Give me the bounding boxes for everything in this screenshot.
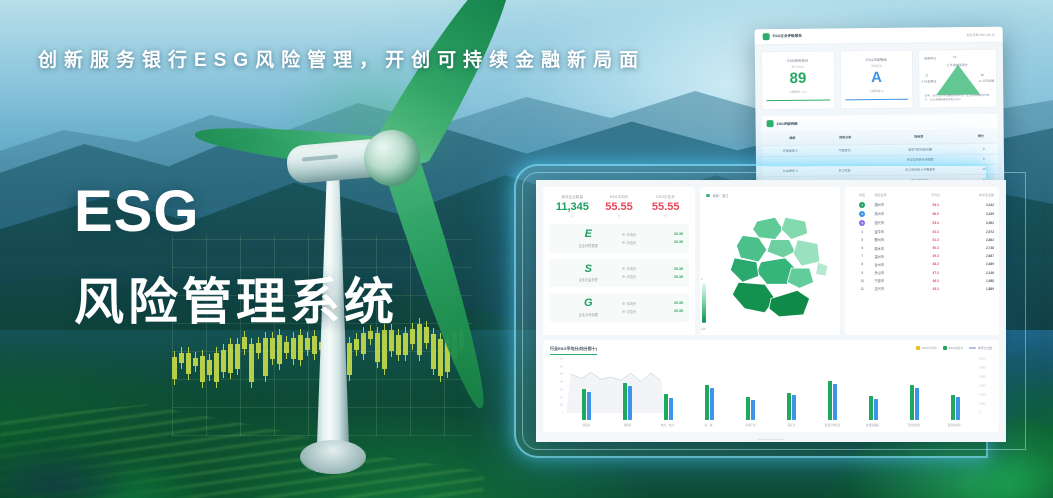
y-tick-label: 20 <box>560 396 563 399</box>
chart-bar-group: 交通运输和... <box>853 359 894 427</box>
bar-esg-median <box>587 392 591 420</box>
grade-label: ESG评级等级 <box>845 57 909 63</box>
y-tick-label: 0 <box>562 412 563 415</box>
radar-left-name: S 社会责任 <box>921 80 936 84</box>
y-tick-label: 50 <box>560 373 563 376</box>
rank-position: 5 <box>850 238 874 242</box>
region-name: 衢州市 <box>874 237 917 242</box>
esg-dimension-values: 平均分20.35中位分20.35 <box>622 265 683 281</box>
rank-position: 4 <box>850 230 874 234</box>
region-score: 51.3 <box>918 238 954 242</box>
chart-bar-group: 批发与零售业 <box>812 359 853 427</box>
y-tick-label: 70 <box>560 358 563 361</box>
esg-letter: S <box>555 264 622 275</box>
chart-bar-group: 房地产业 <box>730 359 771 427</box>
hero-subtitle: 风险管理系统 <box>74 262 398 334</box>
y-tick-label: 60 <box>560 365 563 368</box>
rank-medal-icon: 3 <box>859 220 865 226</box>
rank-position: 3 <box>850 220 874 226</box>
map-region-zhoushan <box>816 262 828 276</box>
grade-sub: 评级区间 <box>845 64 909 69</box>
chart-bar-group: 电力、热力... <box>648 359 689 427</box>
rank-position: 9 <box>850 271 874 275</box>
region-score: 50.3 <box>918 246 954 250</box>
dashboard-screen[interactable]: 参评企业数量11,345家ESG平均分55.55分ESG中位分55.55分 E企… <box>536 180 1006 442</box>
esg-dimension-identity: S企业社会责任 <box>555 264 622 283</box>
col-header: 指标项 <box>870 132 967 142</box>
y-tick-label: 40 <box>560 381 563 384</box>
table-cell: 气候变化 <box>818 146 870 156</box>
map-region-jinhua <box>757 258 796 284</box>
map-region-label: 地域：浙江 <box>713 193 729 198</box>
stat-value: 11,345 <box>549 201 596 213</box>
legend-item[interactable]: ESG中位分 <box>943 346 963 350</box>
map-legend-max: 0 <box>701 278 702 281</box>
region-company-count: 2,687 <box>954 254 994 258</box>
table-row[interactable]: 4金华市52.32,972 <box>850 228 994 236</box>
rank-position: 2 <box>850 211 874 217</box>
map-legend-gradient <box>702 283 706 323</box>
col-header: 参评企业数 <box>954 193 994 200</box>
table-cell: 8 <box>970 154 998 163</box>
ranking-header-row: 排名 地区名称 平均分 参评企业数 <box>850 193 994 200</box>
score-label: ESG综合得分 <box>766 58 830 64</box>
region-score: 59.3 <box>918 203 954 207</box>
bullet-icon <box>622 267 625 270</box>
region-name: 嘉兴市 <box>874 286 917 291</box>
grade-value: A <box>845 70 909 87</box>
esg-average-label: 平均分 <box>622 301 637 306</box>
radar-triangle-shape <box>936 64 980 94</box>
bar-pair <box>951 366 961 420</box>
region-score: 48.3 <box>918 262 954 266</box>
esg-dimension-card: E企业环境表现平均分20.35中位分20.35 <box>549 224 689 253</box>
region-name: 舟山市 <box>874 270 917 275</box>
chart-bars: 制造业建筑业电力、热力...农、林...房地产业采矿业批发与零售业交通运输和..… <box>566 359 976 427</box>
region-name: 台州市 <box>874 262 917 267</box>
x-tick-label: 农、林... <box>705 423 715 427</box>
bar-pair <box>746 366 756 420</box>
region-company-count: 2,862 <box>954 238 994 242</box>
x-tick-label: 房地产业 <box>745 423 755 427</box>
esg-caption: 企业社会责任 <box>555 277 622 282</box>
stat-unit: 分 <box>642 214 689 218</box>
region-company-count: 3,082 <box>954 221 994 225</box>
report-score-row: ESG综合得分 满分100分 89 上期得分 +2.1 ESG评级等级 评级区间… <box>755 43 1004 117</box>
bar-esg-median <box>915 388 919 420</box>
rank-position: 10 <box>850 279 874 283</box>
industry-chart-panel: 行业ESG平均分(均分前十) ESG平均分ESG中位分参评企业数 7060504… <box>543 340 999 432</box>
report-table-title: ESG评级明细 <box>777 121 798 126</box>
bar-esg-median <box>833 384 837 420</box>
esg-dimension-card: S企业社会责任平均分20.35中位分20.35 <box>549 259 689 288</box>
esg-dimension-cards: E企业环境表现平均分20.35中位分20.35S企业社会责任平均分20.35中位… <box>549 224 689 322</box>
location-dot-icon <box>706 194 710 198</box>
chart-bar-group: 租赁和商务... <box>935 359 976 427</box>
bar-esg-average <box>787 393 791 420</box>
x-tick-label: 电力、热力... <box>661 423 676 427</box>
bar-esg-average <box>910 385 914 420</box>
x-tick-label: 交通运输和... <box>866 423 881 427</box>
region-score: 45.3 <box>918 287 954 291</box>
esg-average-row: 平均分20.35 <box>622 265 683 273</box>
bar-esg-median <box>874 399 878 420</box>
bar-esg-median <box>669 398 673 420</box>
region-name: 湖州市 <box>874 202 917 207</box>
region-name: 金华市 <box>874 229 917 234</box>
legend-label: ESG平均分 <box>922 346 936 350</box>
summary-panel: 参评企业数量11,345家ESG平均分55.55分ESG中位分55.55分 E企… <box>543 187 695 335</box>
bullet-icon <box>622 275 625 278</box>
esg-average-row: 平均分20.35 <box>622 299 683 307</box>
stat-unit: 家 <box>549 214 596 218</box>
esg-dimension-values: 平均分20.35中位分20.35 <box>622 299 683 315</box>
esg-average-value: 20.35 <box>674 301 683 305</box>
legend-item[interactable]: ESG平均分 <box>916 346 936 350</box>
bar-pair <box>705 366 715 420</box>
map-region-lishui <box>732 282 775 313</box>
legend-label: 参评企业数 <box>978 346 992 350</box>
hero-headline: 创新服务银行ESG风险管理，开创可持续金融新局面 <box>38 45 645 72</box>
bar-pair <box>828 366 838 420</box>
esg-median-label: 中位分 <box>622 274 637 279</box>
report-brand-text: ESG企业评级报告 <box>773 34 802 39</box>
summary-stat: ESG平均分55.55分 <box>596 194 643 218</box>
chart-legend[interactable]: ESG平均分ESG中位分参评企业数 <box>916 346 992 350</box>
stat-label: ESG平均分 <box>596 194 643 199</box>
esg-dimension-card: G企业公司治理平均分20.35中位分20.35 <box>549 293 689 322</box>
radar-right-value: 66 <box>981 73 984 77</box>
map-header[interactable]: 地域：浙江 <box>706 193 834 198</box>
esg-letter: G <box>555 298 622 309</box>
score-panel: ESG综合得分 满分100分 89 上期得分 +2.1 <box>761 50 835 110</box>
rank-position: 11 <box>850 287 874 291</box>
col-header: 维度 <box>765 133 820 143</box>
x-tick-label: 批发与零售业 <box>825 423 841 427</box>
region-company-count: 2,972 <box>954 230 994 234</box>
bar-esg-average <box>869 396 873 420</box>
section-dot-icon <box>767 120 774 127</box>
region-map-panel[interactable]: 地域：浙江 <box>700 187 840 335</box>
report-brand: ESG企业评级报告 <box>763 33 802 40</box>
region-company-count: 1,988 <box>954 279 994 283</box>
y-tick-label: 30 <box>560 388 563 391</box>
map-region-taizhou <box>787 268 813 288</box>
table-cell: 温室气体排放总量 <box>870 145 969 155</box>
bullet-icon <box>622 310 625 313</box>
table-row[interactable]: 1湖州市59.33,342 <box>850 200 994 209</box>
tablet-device-frame: 参评企业数量11,345家ESG平均分55.55分ESG中位分55.55分 E企… <box>516 166 986 456</box>
esg-average-label: 平均分 <box>622 266 637 271</box>
esg-median-row: 中位分20.35 <box>622 273 683 281</box>
zhejiang-map-svg[interactable] <box>712 203 834 329</box>
region-score: 46.3 <box>918 279 954 283</box>
chart-y-axis: 706050403020100 <box>550 359 564 413</box>
y2-tick-label: 4,000 <box>979 375 986 378</box>
turbine-base <box>300 440 366 474</box>
esg-dimension-identity: E企业环境表现 <box>555 229 622 248</box>
summary-stat: ESG中位分55.55分 <box>642 194 689 218</box>
table-row[interactable]: 9舟山市47.32,146 <box>850 269 994 277</box>
region-name: 丽水市 <box>874 246 917 251</box>
table-cell: 单位营收碳排放强度 <box>870 155 969 165</box>
bar-esg-median <box>956 397 960 420</box>
chart-bar-group: 卫生和社会... <box>894 359 935 427</box>
map-region-hangzhou <box>736 236 767 262</box>
table-cell <box>762 156 819 166</box>
esg-average-value: 20.35 <box>674 267 683 271</box>
chart-title: 行业ESG平均分(均分前十) <box>550 346 597 355</box>
table-cell: 环境表现 E <box>762 146 819 156</box>
region-name: 杭州市 <box>874 211 917 216</box>
leaf-logo-icon <box>763 33 770 40</box>
ranking-body: 1湖州市59.33,3422杭州市56.03,1653绍兴市53.33,0824… <box>850 200 994 293</box>
bar-esg-median <box>628 386 632 420</box>
esg-median-value: 20.35 <box>674 275 683 279</box>
bullet-icon <box>622 302 625 305</box>
y2-tick-label: 2,000 <box>979 393 986 396</box>
esg-caption: 企业公司治理 <box>555 312 622 317</box>
stat-value: 55.55 <box>642 201 689 213</box>
rank-medal-icon: 1 <box>859 202 865 208</box>
radar-right-name: G 公司治理 <box>979 79 994 83</box>
bar-esg-median <box>710 388 714 420</box>
col-header: 指标分类 <box>820 133 871 143</box>
radar-left-value: 21 <box>925 74 928 78</box>
region-company-count: 1,889 <box>954 287 994 291</box>
x-tick-label: 制造业 <box>583 423 591 427</box>
region-score: 53.3 <box>918 221 954 225</box>
table-row[interactable]: 2杭州市56.03,165 <box>850 209 994 218</box>
rank-position: 7 <box>850 254 874 258</box>
bar-esg-average <box>746 397 750 420</box>
bar-esg-median <box>792 395 796 420</box>
col-header: 平均分 <box>918 193 954 200</box>
score-tag: 上期得分 +2.1 <box>766 89 830 94</box>
legend-label: ESG中位分 <box>949 346 963 350</box>
esg-median-value: 20.35 <box>674 240 683 244</box>
chart-header: 行业ESG平均分(均分前十) ESG平均分ESG中位分参评企业数 <box>550 346 992 355</box>
region-score: 49.3 <box>918 254 954 258</box>
dashboard-top-panels: 参评企业数量11,345家ESG平均分55.55分ESG中位分55.55分 E企… <box>536 180 1006 335</box>
turbine-hub <box>364 130 420 186</box>
table-row[interactable]: 8台州市48.32,489 <box>850 260 994 268</box>
region-name: 宁波市 <box>874 278 917 283</box>
bar-pair <box>869 366 879 420</box>
legend-swatch <box>969 347 976 349</box>
bar-pair <box>664 366 674 420</box>
bar-pair <box>787 366 797 420</box>
chart-bar-group: 制造业 <box>566 359 607 427</box>
region-name: 绍兴市 <box>874 220 917 225</box>
x-tick-label: 卫生和社会... <box>907 423 922 427</box>
table-row[interactable]: 3绍兴市53.33,082 <box>850 218 994 227</box>
chart-bar-group: 采矿业 <box>771 359 812 427</box>
bar-esg-average <box>828 381 832 420</box>
y2-tick-label: 6,000 <box>979 358 986 361</box>
rank-position: 1 <box>850 202 874 208</box>
map-legend-min: 100 <box>701 328 705 331</box>
y2-tick-label: 0 <box>979 412 980 415</box>
map-region-jiaxing <box>781 217 807 239</box>
bar-esg-average <box>623 383 627 420</box>
esg-median-row: 中位分20.35 <box>622 307 683 315</box>
rank-position: 6 <box>850 246 874 250</box>
y2-tick-label: 1,000 <box>979 403 986 406</box>
chart-bar-group: 农、林... <box>689 359 730 427</box>
bar-pair <box>582 366 592 420</box>
region-ranking-panel: 排名 地区名称 平均分 参评企业数 1湖州市59.33,3422杭州市56.03… <box>845 187 999 335</box>
rank-medal-icon: 2 <box>859 211 865 217</box>
region-score: 47.3 <box>918 271 954 275</box>
region-score: 56.0 <box>918 212 954 216</box>
score-sub: 满分100分 <box>766 65 830 70</box>
bar-esg-average <box>705 385 709 420</box>
y2-tick-label: 5,000 <box>979 366 986 369</box>
bar-esg-average <box>951 395 955 420</box>
y2-tick-label: 3,000 <box>979 385 986 388</box>
col-header: 排名 <box>850 193 874 200</box>
x-tick-label: 采矿业 <box>788 423 796 427</box>
home-indicator <box>758 439 784 441</box>
chart-plot-area: 706050403020100 6,0005,0004,0003,0002,00… <box>550 359 992 427</box>
map-region-quzhou <box>730 258 758 282</box>
table-row[interactable]: 5衢州市51.32,862 <box>850 236 994 244</box>
stat-unit: 分 <box>596 214 643 218</box>
grade-tag: 上期评级 A- <box>845 88 909 93</box>
legend-item[interactable]: 参评企业数 <box>969 346 992 350</box>
region-company-count: 3,165 <box>954 212 994 216</box>
rank-position: 8 <box>850 262 874 266</box>
bar-esg-median <box>751 400 755 420</box>
region-name: 温州市 <box>874 254 917 259</box>
stat-value: 55.55 <box>596 201 643 213</box>
esg-average-value: 20.35 <box>674 232 683 236</box>
bar-esg-average <box>664 394 668 420</box>
esg-caption: 企业环境表现 <box>555 243 622 248</box>
esg-median-value: 20.35 <box>674 309 683 313</box>
radar-caption: 维度得分 <box>924 56 936 60</box>
map-region-wenzhou <box>769 290 810 316</box>
bar-esg-average <box>582 389 586 420</box>
summary-stats-row: 参评企业数量11,345家ESG平均分55.55分ESG中位分55.55分 <box>549 194 689 218</box>
map-region-shaoxing <box>767 240 795 258</box>
y-tick-label: 10 <box>560 404 563 407</box>
bullet-icon <box>622 233 625 236</box>
table-row[interactable]: 7温州市49.32,687 <box>850 252 994 260</box>
region-company-count: 3,342 <box>954 203 994 207</box>
region-company-count: 2,146 <box>954 271 994 275</box>
report-date: 报告日期 2023-06-30 <box>966 32 994 36</box>
table-row[interactable]: 11嘉兴市45.31,889 <box>850 285 994 293</box>
esg-median-row: 中位分20.35 <box>622 238 683 246</box>
map-region-huzhou <box>753 217 784 239</box>
hero-title: ESG <box>74 178 200 245</box>
stat-label: ESG中位分 <box>642 194 689 199</box>
legend-swatch <box>943 346 947 350</box>
esg-median-label: 中位分 <box>622 240 637 245</box>
bar-pair <box>910 366 920 420</box>
esg-median-label: 中位分 <box>622 309 637 314</box>
radar-panel: 维度得分 78 E 环境表现得分 21 S 社会责任 66 G 公司治理 说明：… <box>918 49 997 109</box>
radar-top-value: 78 <box>953 55 956 59</box>
region-score: 52.3 <box>918 230 954 234</box>
chart-bar-group: 建筑业 <box>607 359 648 427</box>
esg-dimension-identity: G企业公司治理 <box>555 298 622 317</box>
esg-average-row: 平均分20.35 <box>622 230 683 238</box>
table-cell <box>819 156 871 166</box>
table-row[interactable]: 6丽水市50.32,748 <box>850 244 994 252</box>
score-progress-bar <box>766 99 830 101</box>
grade-progress-bar <box>845 98 909 100</box>
x-tick-label: 建筑业 <box>624 423 632 427</box>
summary-stat: 参评企业数量11,345家 <box>549 194 596 218</box>
map-region-ningbo <box>793 240 819 266</box>
grade-panel: ESG评级等级 评级区间 A 上期评级 A- <box>839 50 913 110</box>
score-value: 89 <box>766 71 830 88</box>
stat-label: 参评企业数量 <box>549 194 596 199</box>
col-header: 得分 <box>967 131 995 140</box>
chart-y2-axis: 6,0005,0004,0003,0002,0001,0000 <box>978 359 992 413</box>
legend-swatch <box>916 346 920 350</box>
table-cell: 9 <box>969 144 997 153</box>
esg-average-label: 平均分 <box>622 232 637 237</box>
x-tick-label: 租赁和商务... <box>948 423 963 427</box>
region-company-count: 2,489 <box>954 262 994 266</box>
table-row[interactable]: 10宁波市46.31,988 <box>850 277 994 285</box>
chart-line-series <box>566 359 666 413</box>
esg-letter: E <box>555 229 622 240</box>
esg-dimension-values: 平均分20.35中位分20.35 <box>622 230 683 246</box>
region-company-count: 2,748 <box>954 246 994 250</box>
map-canvas[interactable] <box>712 203 834 329</box>
radar-note: 说明：该企业在环境维度表现突出，社会责任维度有待提升，公司治理维度保持稳定水平。 <box>925 94 992 102</box>
bar-pair <box>623 366 633 420</box>
bullet-icon <box>622 241 625 244</box>
col-header: 地区名称 <box>874 193 917 200</box>
